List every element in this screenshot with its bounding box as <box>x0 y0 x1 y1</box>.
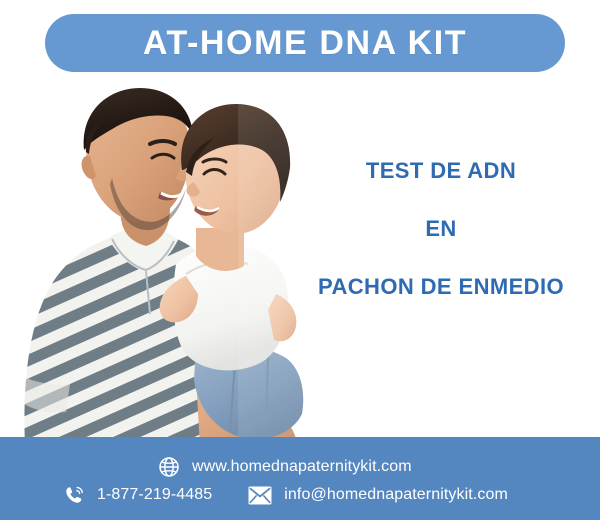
email-text: info@homednapaternitykit.com <box>284 487 508 503</box>
globe-icon <box>158 456 180 478</box>
envelope-icon <box>248 486 272 505</box>
footer-contact-row: 1-877-219-4485 info@homednapaternitykit.… <box>63 484 508 506</box>
headline-line-2: EN <box>292 218 590 240</box>
headline-line-3: PACHON DE ENMEDIO <box>292 276 590 298</box>
phone-icon <box>63 484 85 506</box>
phone-text: 1-877-219-4485 <box>97 487 212 503</box>
website-text: www.homednapaternitykit.com <box>192 459 412 475</box>
footer: www.homednapaternitykit.com 1-877-219-44… <box>0 437 600 520</box>
footer-website-row: www.homednapaternitykit.com <box>158 456 412 478</box>
banner-title: AT-HOME DNA KIT <box>143 26 467 60</box>
phone-item[interactable]: 1-877-219-4485 <box>63 484 212 506</box>
banner: AT-HOME DNA KIT <box>45 14 565 72</box>
email-item[interactable]: info@homednapaternitykit.com <box>248 486 508 505</box>
headline: TEST DE ADN EN PACHON DE ENMEDIO <box>292 160 590 298</box>
father-and-child-photo <box>0 78 318 446</box>
website-item[interactable]: www.homednapaternitykit.com <box>158 456 412 478</box>
headline-line-1: TEST DE ADN <box>292 160 590 182</box>
dna-kit-promo-card: AT-HOME DNA KIT <box>0 0 600 520</box>
